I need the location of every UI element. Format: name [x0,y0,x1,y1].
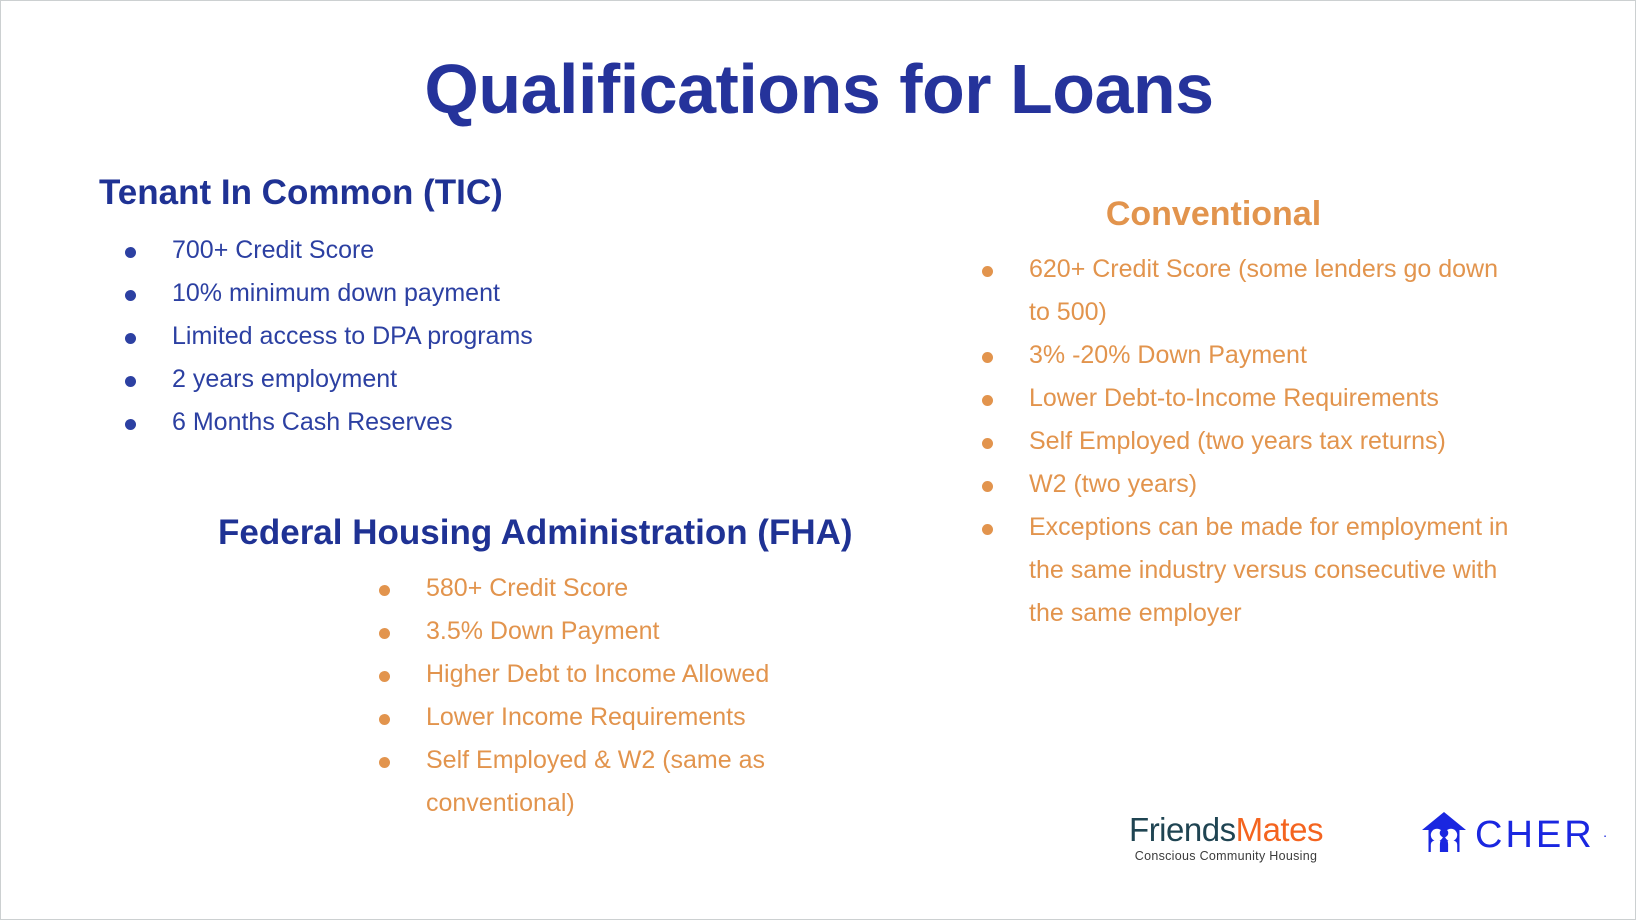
conventional-heading: Conventional [956,195,1516,234]
friendsmates-wordmark: FriendsMates [1121,813,1331,846]
cher-logo: CHER · [1421,811,1607,858]
list-item-label: 3.5% Down Payment [426,610,918,653]
friendsmates-word-friends: Friends [1129,811,1236,848]
bullet-dot-icon [982,481,993,492]
list-item-label: 580+ Credit Score [426,567,918,610]
list-item: W2 (two years) [956,463,1516,506]
list-item-label: Lower Income Requirements [426,696,918,739]
list-item-label: 3% -20% Down Payment [1029,334,1516,377]
conventional-bullet-list: 620+ Credit Score (some lenders go down … [956,248,1516,635]
tic-heading: Tenant In Common (TIC) [99,173,619,213]
bullet-dot-icon [125,333,136,344]
list-item-label: Self Employed & W2 (same as conventional… [426,739,918,825]
list-item-label: Self Employed (two years tax returns) [1029,420,1516,463]
list-item-label: W2 (two years) [1029,463,1516,506]
list-item: Higher Debt to Income Allowed [353,653,918,696]
bullet-dot-icon [125,376,136,387]
list-item-label: 620+ Credit Score (some lenders go down … [1029,248,1516,334]
cher-wordmark: CHER [1475,816,1595,854]
list-item: 700+ Credit Score [99,229,619,272]
tic-bullet-list: 700+ Credit Score 10% minimum down payme… [99,229,619,444]
list-item: Lower Income Requirements [353,696,918,739]
page-title: Qualifications for Loans [1,53,1636,127]
bullet-dot-icon [982,438,993,449]
list-item: Self Employed & W2 (same as conventional… [353,739,918,825]
bullet-dot-icon [982,352,993,363]
friendsmates-tagline: Conscious Community Housing [1121,850,1331,863]
list-item: 6 Months Cash Reserves [99,401,619,444]
conventional-section: Conventional 620+ Credit Score (some len… [956,195,1516,635]
list-item: Exceptions can be made for employment in… [956,506,1516,635]
friendsmates-logo: FriendsMates Conscious Community Housing [1121,813,1331,863]
list-item-label: 700+ Credit Score [172,229,619,272]
logo-row: FriendsMates Conscious Community Housing… [1121,807,1591,877]
tic-section: Tenant In Common (TIC) 700+ Credit Score… [99,173,619,444]
cher-trademark: · [1603,827,1608,843]
list-item-label: Higher Debt to Income Allowed [426,653,918,696]
list-item: 10% minimum down payment [99,272,619,315]
list-item: Self Employed (two years tax returns) [956,420,1516,463]
list-item: 3.5% Down Payment [353,610,918,653]
list-item-label: 2 years employment [172,358,619,401]
bullet-dot-icon [379,585,390,596]
bullet-dot-icon [379,628,390,639]
bullet-dot-icon [982,524,993,535]
list-item-label: Lower Debt-to-Income Requirements [1029,377,1516,420]
list-item-label: Limited access to DPA programs [172,315,619,358]
bullet-dot-icon [982,266,993,277]
bullet-dot-icon [379,671,390,682]
list-item: 3% -20% Down Payment [956,334,1516,377]
bullet-dot-icon [982,395,993,406]
fha-bullet-list: 580+ Credit Score 3.5% Down Payment High… [353,567,918,825]
friendsmates-word-mates: Mates [1236,811,1323,848]
fha-heading: Federal Housing Administration (FHA) [218,513,918,553]
fha-section: Federal Housing Administration (FHA) 580… [218,513,918,825]
house-with-people-icon [1421,811,1467,858]
list-item: 620+ Credit Score (some lenders go down … [956,248,1516,334]
list-item-label: 6 Months Cash Reserves [172,401,619,444]
list-item: 580+ Credit Score [353,567,918,610]
bullet-dot-icon [125,290,136,301]
list-item-label: 10% minimum down payment [172,272,619,315]
list-item: Lower Debt-to-Income Requirements [956,377,1516,420]
list-item-label: Exceptions can be made for employment in… [1029,506,1516,635]
bullet-dot-icon [379,714,390,725]
list-item: 2 years employment [99,358,619,401]
slide-canvas: Qualifications for Loans Tenant In Commo… [0,0,1636,920]
bullet-dot-icon [125,419,136,430]
list-item: Limited access to DPA programs [99,315,619,358]
bullet-dot-icon [379,757,390,768]
bullet-dot-icon [125,247,136,258]
